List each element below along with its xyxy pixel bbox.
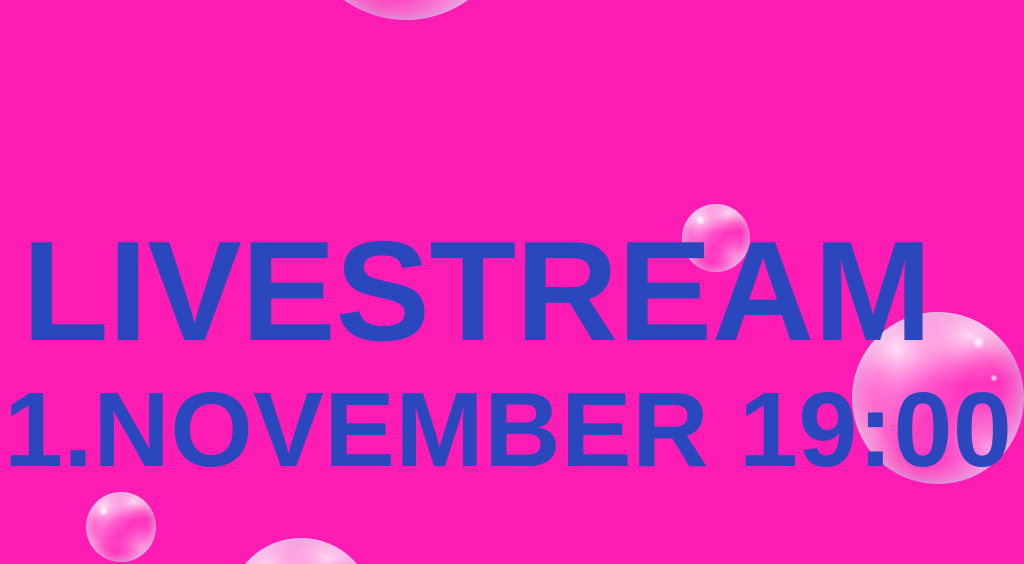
bubble-highlight-a	[228, 538, 374, 564]
bubble-small-left-icon	[86, 492, 156, 562]
bubble-highlight-b	[300, 0, 512, 20]
bubble-highlight-b	[228, 538, 374, 564]
poster-canvas: LIVESTREAM 1.NOVEMBER 19:00	[0, 0, 1024, 564]
headline-line-two: 1.NOVEMBER 19:00	[0, 377, 1024, 483]
bubble-highlight-c	[228, 538, 374, 564]
bubble-highlight-a	[86, 492, 156, 562]
bubble-highlight-a	[300, 0, 512, 20]
bubble-top-icon	[300, 0, 512, 20]
bubble-shell	[228, 538, 374, 564]
bubble-shell	[300, 0, 512, 20]
headline-line-one: LIVESTREAM	[0, 221, 1024, 363]
bubble-shell	[86, 492, 156, 562]
bubble-highlight-b	[86, 492, 156, 562]
bubble-bottom-icon	[228, 538, 374, 564]
bubble-highlight-c	[300, 0, 512, 20]
bubble-highlight-c	[86, 492, 156, 562]
bubble-specular-dot	[99, 507, 108, 516]
